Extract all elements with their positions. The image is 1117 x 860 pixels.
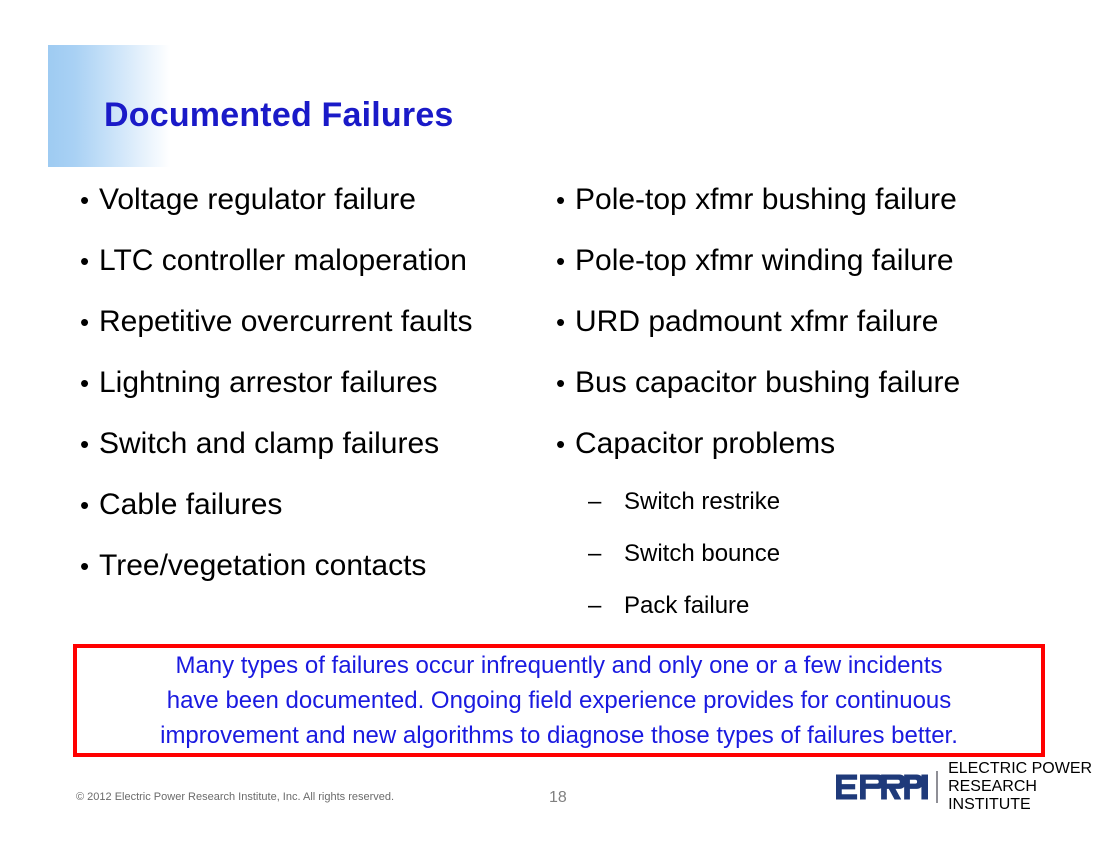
- logo-divider: [936, 771, 938, 803]
- bullet-item: • Pole-top xfmr winding failure: [556, 243, 1076, 304]
- dash-marker-icon: –: [588, 487, 624, 517]
- bullet-marker-icon: •: [80, 304, 99, 340]
- bullet-label: Pole-top xfmr winding failure: [575, 243, 954, 279]
- bullet-item: • Bus capacitor bushing failure: [556, 365, 1076, 426]
- subbullet-item: – Pack failure: [556, 591, 1076, 643]
- left-bullet-column: • Voltage regulator failure • LTC contro…: [80, 182, 550, 609]
- bullet-marker-icon: •: [556, 304, 575, 340]
- page-title: Documented Failures: [104, 96, 454, 135]
- bullet-marker-icon: •: [556, 243, 575, 279]
- bullet-label: Voltage regulator failure: [99, 182, 416, 218]
- bullet-item: • Repetitive overcurrent faults: [80, 304, 550, 365]
- copyright-notice: © 2012 Electric Power Research Institute…: [76, 791, 394, 803]
- bullet-marker-icon: •: [80, 426, 99, 462]
- subbullet-item: – Switch restrike: [556, 487, 1076, 539]
- subbullet-label: Switch restrike: [624, 487, 780, 517]
- callout-line: Many types of failures occur infrequentl…: [175, 648, 942, 683]
- logo-tagline: ELECTRIC POWER RESEARCH INSTITUTE: [948, 760, 1117, 814]
- bullet-label: Cable failures: [99, 487, 282, 523]
- bullet-label: URD padmount xfmr failure: [575, 304, 938, 340]
- bullet-marker-icon: •: [556, 426, 575, 462]
- epri-wordmark-icon: [836, 774, 928, 800]
- bullet-label: Capacitor problems: [575, 426, 835, 462]
- bullet-marker-icon: •: [556, 365, 575, 401]
- dash-marker-icon: –: [588, 539, 624, 569]
- bullet-marker-icon: •: [80, 243, 99, 279]
- bullet-item: • LTC controller maloperation: [80, 243, 550, 304]
- slide-canvas: Documented Failures • Voltage regulator …: [0, 0, 1117, 860]
- bullet-label: Pole-top xfmr bushing failure: [575, 182, 957, 218]
- logo-tagline-line1: ELECTRIC POWER: [948, 760, 1117, 778]
- bullet-label: Tree/vegetation contacts: [99, 548, 426, 584]
- bullet-label: Lightning arrestor failures: [99, 365, 438, 401]
- right-bullet-column: • Pole-top xfmr bushing failure • Pole-t…: [556, 182, 1076, 643]
- bullet-label: Bus capacitor bushing failure: [575, 365, 960, 401]
- bullet-item: • Lightning arrestor failures: [80, 365, 550, 426]
- bullet-label: LTC controller maloperation: [99, 243, 467, 279]
- bullet-item: • Capacitor problems: [556, 426, 1076, 487]
- bullet-marker-icon: •: [80, 548, 99, 584]
- bullet-item: • Voltage regulator failure: [80, 182, 550, 243]
- callout-line: have been documented. Ongoing field expe…: [167, 683, 952, 718]
- callout-box: Many types of failures occur infrequentl…: [73, 644, 1045, 757]
- subbullet-label: Pack failure: [624, 591, 749, 621]
- bullet-marker-icon: •: [80, 365, 99, 401]
- bullet-label: Repetitive overcurrent faults: [99, 304, 473, 340]
- page-number: 18: [549, 789, 567, 807]
- bullet-marker-icon: •: [80, 487, 99, 523]
- callout-line: improvement and new algorithms to diagno…: [160, 718, 958, 753]
- bullet-label: Switch and clamp failures: [99, 426, 439, 462]
- bullet-item: • Switch and clamp failures: [80, 426, 550, 487]
- bullet-item: • Cable failures: [80, 487, 550, 548]
- bullet-marker-icon: •: [556, 182, 575, 218]
- subbullet-label: Switch bounce: [624, 539, 780, 569]
- bullet-item: • Tree/vegetation contacts: [80, 548, 550, 609]
- bullet-marker-icon: •: [80, 182, 99, 218]
- dash-marker-icon: –: [588, 591, 624, 621]
- logo-tagline-line2: RESEARCH INSTITUTE: [948, 778, 1117, 814]
- bullet-item: • Pole-top xfmr bushing failure: [556, 182, 1076, 243]
- epri-logo: ELECTRIC POWER RESEARCH INSTITUTE: [836, 770, 1117, 804]
- subbullet-item: – Switch bounce: [556, 539, 1076, 591]
- bullet-item: • URD padmount xfmr failure: [556, 304, 1076, 365]
